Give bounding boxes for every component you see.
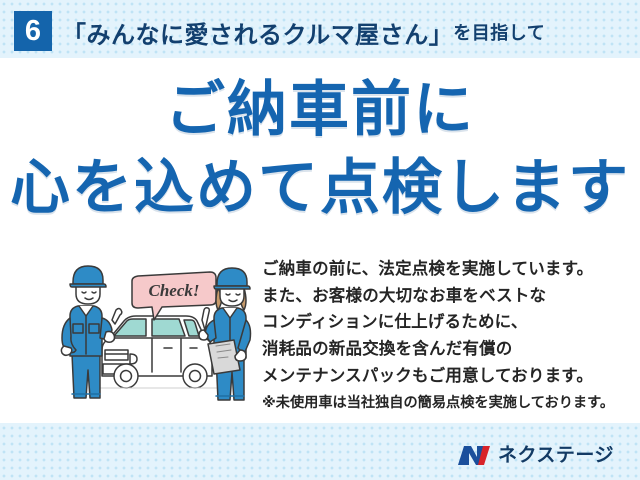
mechanic-left [61, 266, 121, 398]
promo-page: 6 「みんなに愛されるクルマ屋さん」 を目指して ご納車前に 心を込めて点検しま… [0, 0, 640, 480]
content-panel: ご納車前に 心を込めて点検します ご納車の前に、法定点検を実施しています。 また… [0, 58, 640, 423]
body-line-4: 消耗品の新品交換を含んだ有償の [262, 340, 513, 358]
brand-name: ネクステージ [498, 446, 614, 465]
headline: ご納車前に 心を込めて点検します [0, 80, 640, 218]
section-number-badge: 6 [14, 11, 52, 51]
page-title-suffix: を目指して [453, 19, 545, 45]
speech-bubble-text: Check! [149, 281, 200, 300]
nexstage-n-icon [457, 444, 491, 467]
body-note: ※未使用車は当社独自の簡易点検を実施しております。 [262, 392, 622, 415]
page-title: 「みんなに愛されるクルマ屋さん」 を目指して [62, 12, 545, 52]
headline-line-2: 心を込めて点検します [0, 158, 640, 218]
body-line-5: メンテナンスパックもご用意しております。 [262, 367, 593, 385]
page-title-quoted: 「みんなに愛されるクルマ屋さん」 [62, 15, 453, 50]
body-copy: ご納車の前に、法定点検を実施しています。 また、お客様の大切なお車をベストな コ… [262, 256, 622, 415]
mechanics-illustration: Check! [58, 258, 258, 408]
body-line-1: ご納車の前に、法定点検を実施しています。 [262, 260, 593, 278]
brand-logo: ネクステージ [457, 444, 614, 467]
body-line-3: コンディションに仕上げるために、 [262, 313, 528, 331]
headline-line-1: ご納車前に [0, 80, 640, 140]
body-line-2: また、お客様の大切なお車をベストな [262, 287, 546, 305]
van-graphic [98, 316, 218, 388]
page-header: 6 「みんなに愛されるクルマ屋さん」 を目指して [0, 0, 640, 58]
